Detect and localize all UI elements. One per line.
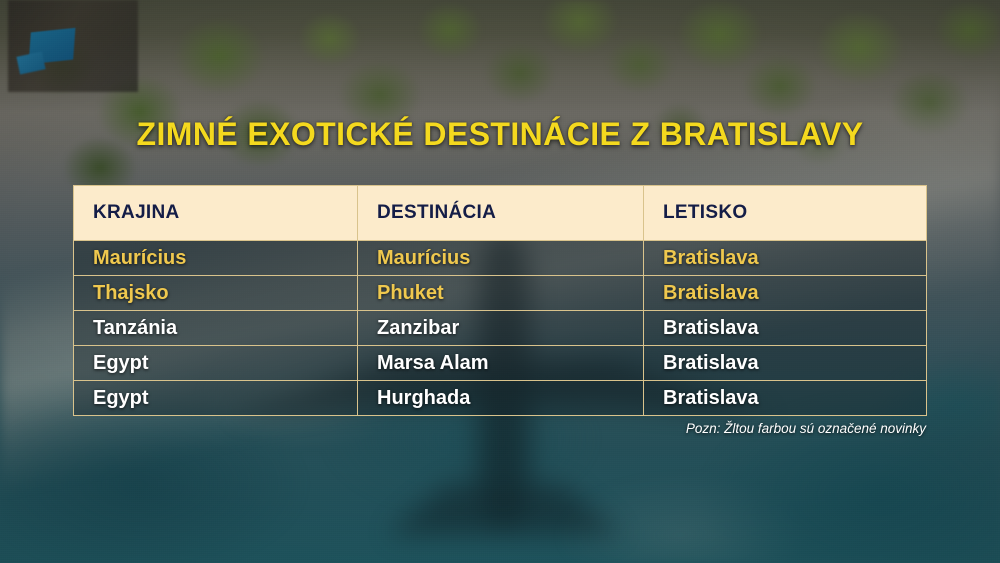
destinations-table-container: KRAJINA DESTINÁCIA LETISKO Maurícius Mau… bbox=[73, 185, 926, 416]
table-row: Tanzánia Zanzibar Bratislava bbox=[74, 311, 927, 346]
table-row: Egypt Hurghada Bratislava bbox=[74, 381, 927, 416]
table-header: KRAJINA DESTINÁCIA LETISKO bbox=[74, 186, 927, 241]
column-header-country: KRAJINA bbox=[74, 186, 358, 241]
slide-content: ZIMNÉ EXOTICKÉ DESTINÁCIE Z BRATISLAVY K… bbox=[0, 0, 1000, 563]
cell-country: Egypt bbox=[74, 346, 358, 381]
cell-country: Tanzánia bbox=[74, 311, 358, 346]
cell-airport: Bratislava bbox=[644, 276, 927, 311]
column-header-airport: LETISKO bbox=[644, 186, 927, 241]
table-row: Egypt Marsa Alam Bratislava bbox=[74, 346, 927, 381]
cell-country: Egypt bbox=[74, 381, 358, 416]
cell-airport: Bratislava bbox=[644, 241, 927, 276]
cell-airport: Bratislava bbox=[644, 311, 927, 346]
destinations-table: KRAJINA DESTINÁCIA LETISKO Maurícius Mau… bbox=[73, 185, 927, 416]
footnote-legend: Pozn: Žltou farbou sú označené novinky bbox=[686, 421, 926, 436]
cell-country: Thajsko bbox=[74, 276, 358, 311]
cell-destination: Hurghada bbox=[358, 381, 644, 416]
slide-canvas: ZIMNÉ EXOTICKÉ DESTINÁCIE Z BRATISLAVY K… bbox=[0, 0, 1000, 563]
cell-destination: Maurícius bbox=[358, 241, 644, 276]
slide-title: ZIMNÉ EXOTICKÉ DESTINÁCIE Z BRATISLAVY bbox=[0, 116, 1000, 153]
column-header-destination: DESTINÁCIA bbox=[358, 186, 644, 241]
table-header-row: KRAJINA DESTINÁCIA LETISKO bbox=[74, 186, 927, 241]
cell-airport: Bratislava bbox=[644, 381, 927, 416]
cell-destination: Zanzibar bbox=[358, 311, 644, 346]
cell-airport: Bratislava bbox=[644, 346, 927, 381]
table-body: Maurícius Maurícius Bratislava Thajsko P… bbox=[74, 241, 927, 416]
table-row: Thajsko Phuket Bratislava bbox=[74, 276, 927, 311]
cell-country: Maurícius bbox=[74, 241, 358, 276]
cell-destination: Phuket bbox=[358, 276, 644, 311]
table-row: Maurícius Maurícius Bratislava bbox=[74, 241, 927, 276]
cell-destination: Marsa Alam bbox=[358, 346, 644, 381]
